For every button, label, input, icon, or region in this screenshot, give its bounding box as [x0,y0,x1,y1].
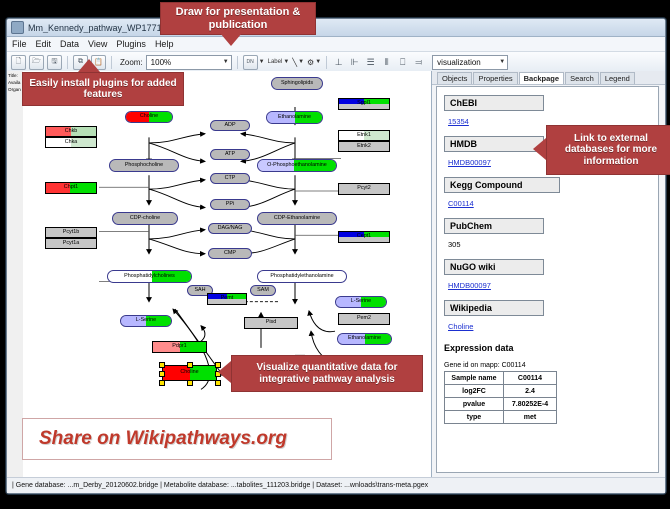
menu-item-plugins[interactable]: Plugins [116,39,146,49]
line-icon: ╲ [292,58,297,67]
menu-item-data[interactable]: Data [60,39,79,49]
screenshot-root: Mm_Kennedy_pathway_WP1771_45176.gpml Fil… [0,0,670,509]
node-dag-nag[interactable]: DAG/NAG [208,223,252,234]
db-header-nugo: NuGO wiki [444,259,544,275]
visualization-value: visualization [437,58,481,67]
node-chpt1[interactable]: Chpt1 [45,182,97,194]
node-pisd[interactable]: Pisd [244,317,298,329]
toolbar-separator-4 [326,56,327,69]
db-link-chebi[interactable]: 15354 [448,117,469,126]
node-phosphatidylethanolamine[interactable]: Phosphatidylethanolamine [257,270,347,283]
callout-plugins: Easily install plugins for added feature… [22,72,184,106]
toolbar-separator-1 [67,56,68,69]
node-label: ADP [224,123,235,128]
callout-links: Link to external databases for more info… [546,125,670,175]
chevron-down-icon: ▼ [298,59,304,65]
node-label: Chpt1 [64,185,78,190]
callout-draw-arrow [220,33,242,46]
chevron-down-icon: ▼ [283,59,289,65]
distribute-horizontal-icon[interactable]: ⦀ [380,56,393,69]
callout-visualize-arrow [218,361,231,383]
tab-properties[interactable]: Properties [473,72,517,84]
node-label: Pcyt2 [357,186,370,191]
app-icon [11,21,24,34]
table-row: pvalue 7.80252E-4 [445,398,557,411]
node-label: Phosphatidylcholines [124,274,175,279]
node-label: CTP [225,176,236,181]
datanode-icon: DN [243,55,258,70]
datanode-tool[interactable]: DN ▼ [243,55,265,70]
node-phosphocholine[interactable]: Phosphocholine [109,159,179,172]
side-label-availability: Availa [8,80,20,86]
node-label: ATP [225,152,235,157]
node-label: Choline [180,370,198,375]
order-icon[interactable]: ⫤ [412,56,425,69]
selection-handle-w[interactable] [159,371,165,377]
selection-handle-n[interactable] [187,362,193,368]
node-label: Cept1 [357,234,371,239]
callout-plugins-arrow [78,59,100,72]
toolbar-separator-3 [237,56,238,69]
node-l-serine-right[interactable]: L-Serine [335,296,387,308]
chevron-down-icon: ▼ [223,59,229,65]
side-panel-tabs: Objects Properties Backpage Search Legen… [432,71,665,85]
node-label: CMP [224,251,236,256]
db-header-chebi: ChEBI [444,95,544,111]
db-link-kegg[interactable]: C00114 [448,199,474,208]
chevron-down-icon: ▼ [315,59,321,65]
side-label-title: Title: [8,73,18,79]
expression-table: Sample name C00114 log2FC 2.4 pvalue 7.8… [444,371,557,424]
node-label: SAM [257,288,269,293]
toolbar-separator-2 [111,56,112,69]
label-tool-text: Label [268,59,283,65]
node-etnk2[interactable]: Etnk2 [338,141,390,152]
node-label: O-Phosphoethanolamine [267,163,327,168]
callout-share: Share on Wikipathways.org [22,418,332,460]
node-label: CDP-choline [130,216,160,221]
tab-search[interactable]: Search [565,72,599,84]
distribute-vertical-icon[interactable]: ☰ [364,56,377,69]
node-label: PPi [226,202,234,207]
node-cdp-choline[interactable]: CDP-choline [112,212,178,225]
callout-draw: Draw for presentation & publication [160,2,316,35]
node-label: Pcyt1a [63,241,79,246]
status-bar: | Gene database: ...m_Derby_20120602.bri… [7,477,665,493]
shape-tool[interactable]: ⚙ ▼ [307,58,321,67]
visualization-combobox[interactable]: visualization ▼ [432,55,508,70]
node-ppi[interactable]: PPi [210,199,250,210]
db-value-pubchem: 305 [448,240,461,249]
node-label: Sphingolipids [281,81,313,86]
node-label: Pisd [266,320,277,325]
node-pemt[interactable]: Pemt [207,293,247,305]
node-label: DAG/NAG [218,226,243,231]
expression-data-title: Expression data [444,343,651,353]
align-left-icon[interactable]: ⊩ [348,56,361,69]
node-label: Phosphocholine [125,163,163,168]
node-label: Sgpl1 [357,101,371,106]
callout-visualize: Visualize quantitative data for integrat… [231,355,423,392]
node-choline-top[interactable]: Choline [125,111,173,123]
title-bar: Mm_Kennedy_pathway_WP1771_45176.gpml [7,19,665,37]
node-label: SAH [194,288,205,293]
node-label: Pem2 [357,316,371,321]
node-label: Etnk1 [357,133,371,138]
node-pdpr1[interactable]: Pdpr1 [152,341,207,353]
node-sgpl1[interactable]: Sgpl1 [338,98,390,110]
zoom-combobox[interactable]: 100% ▼ [146,55,232,70]
status-bar-text: | Gene database: ...m_Derby_20120602.bri… [12,482,428,489]
node-label: CDP-Ethanolamine [274,216,320,221]
zoom-value: 100% [151,58,171,67]
db-link-hmdb[interactable]: HMDB00097 [448,158,491,167]
node-etnk1[interactable]: Etnk1 [338,130,390,141]
node-ethanolamine[interactable]: Ethanolamine [266,111,323,124]
gene-id-label: Gene id on mapp: C00114 [444,362,651,369]
node-label: Etnk2 [357,144,371,149]
db-header-wikipedia: Wikipedia [444,300,544,316]
open-file-button[interactable]: 🗁 [29,55,44,70]
node-pcyt1a[interactable]: Pcyt1a [45,238,97,249]
node-chka[interactable]: Chka [45,137,97,148]
node-label: Chka [65,140,78,145]
node-chkb[interactable]: Chkb [45,126,97,137]
pathway-canvas-panel[interactable]: Title: Availa Organ [7,71,432,477]
node-phosphatidylcholines[interactable]: Phosphatidylcholines [107,270,192,283]
table-cell-key: Sample name [445,372,504,385]
node-label: L-Serine [351,299,371,304]
node-cdp-ethanolamine[interactable]: CDP-Ethanolamine [257,212,337,225]
table-cell-value: 7.80252E-4 [504,398,557,411]
menu-item-view[interactable]: View [88,39,107,49]
menu-bar: File Edit Data View Plugins Help [7,37,665,52]
node-pcyt1b[interactable]: Pcyt1b [45,227,97,238]
callout-links-arrow [533,138,546,160]
label-tool[interactable]: Label ▼ [268,59,290,65]
node-atp[interactable]: ATP [210,149,250,160]
chevron-down-icon: ▼ [259,59,265,65]
node-adp[interactable]: ADP [210,120,250,131]
node-l-serine-left[interactable]: L-Serine [120,315,172,327]
canvas-side-labels: Title: Availa Organ [7,71,24,477]
selection-handle-nw[interactable] [159,362,165,368]
table-row: Sample name C00114 [445,372,557,385]
node-sam[interactable]: SAM [250,285,276,296]
table-cell-key: type [445,411,504,424]
menu-item-file[interactable]: File [12,39,27,49]
table-cell-value: met [504,411,557,424]
callout-share-text: Share on Wikipathways.org [39,428,287,450]
menu-item-edit[interactable]: Edit [36,39,52,49]
db-header-kegg: Kegg Compound [444,177,560,193]
node-label: Phosphatidylethanolamine [270,274,333,279]
node-label: Ethanolamine [278,115,311,120]
node-label: Pdpr1 [172,344,186,349]
chevron-down-icon: ▼ [499,59,505,65]
tool-bar: 🗋 🗁 🖫 ⧉ 📋 Zoom: 100% ▼ DN ▼ Label ▼ ╲ [7,52,665,73]
node-ethanolamine-bottom[interactable]: Ethanolamine [337,333,392,345]
zoom-label: Zoom: [120,58,143,67]
node-cmp[interactable]: CMP [208,248,252,259]
node-label: Pemt [221,296,234,301]
table-cell-key: log2FC [445,385,504,398]
node-label: Choline [140,114,158,119]
tab-legend[interactable]: Legend [600,72,635,84]
db-header-hmdb: HMDB [444,136,544,152]
tab-objects[interactable]: Objects [437,72,472,84]
node-pcyt2[interactable]: Pcyt2 [338,183,390,195]
save-file-button[interactable]: 🖫 [47,55,62,70]
node-label: Pcyt1b [63,230,79,235]
menu-item-help[interactable]: Help [155,39,174,49]
db-link-nugo[interactable]: HMDB00097 [448,281,491,290]
node-label: Ethanolamine [348,336,381,341]
node-label: Chkb [65,129,78,134]
table-cell-value: 2.4 [504,385,557,398]
node-cept1[interactable]: Cept1 [338,231,390,243]
table-cell-value: C00114 [504,372,557,385]
align-top-icon[interactable]: ⊥ [332,56,345,69]
side-label-organism: Organ [8,87,21,93]
db-header-pubchem: PubChem [444,218,544,234]
shape-icon: ⚙ [307,58,314,67]
line-tool[interactable]: ╲ ▼ [292,58,304,67]
table-cell-key: pvalue [445,398,504,411]
pathway-canvas[interactable]: Sphingolipids Choline Ethanolamine Phosp… [23,71,431,477]
selection-handle-sw[interactable] [159,380,165,386]
table-row: type met [445,411,557,424]
table-row: log2FC 2.4 [445,385,557,398]
db-link-wikipedia[interactable]: Choline [448,322,473,331]
node-o-phosphoethanolamine[interactable]: O-Phosphoethanolamine [257,159,337,172]
selection-handle-s[interactable] [187,380,193,386]
stack-icon[interactable]: ⎕ [396,56,409,69]
tab-backpage[interactable]: Backpage [519,72,564,84]
node-ctp[interactable]: CTP [210,173,250,184]
node-pem2[interactable]: Pem2 [338,313,390,325]
new-file-button[interactable]: 🗋 [11,55,26,70]
node-label: L-Serine [136,318,156,323]
node-sphingolipids[interactable]: Sphingolipids [271,77,323,90]
